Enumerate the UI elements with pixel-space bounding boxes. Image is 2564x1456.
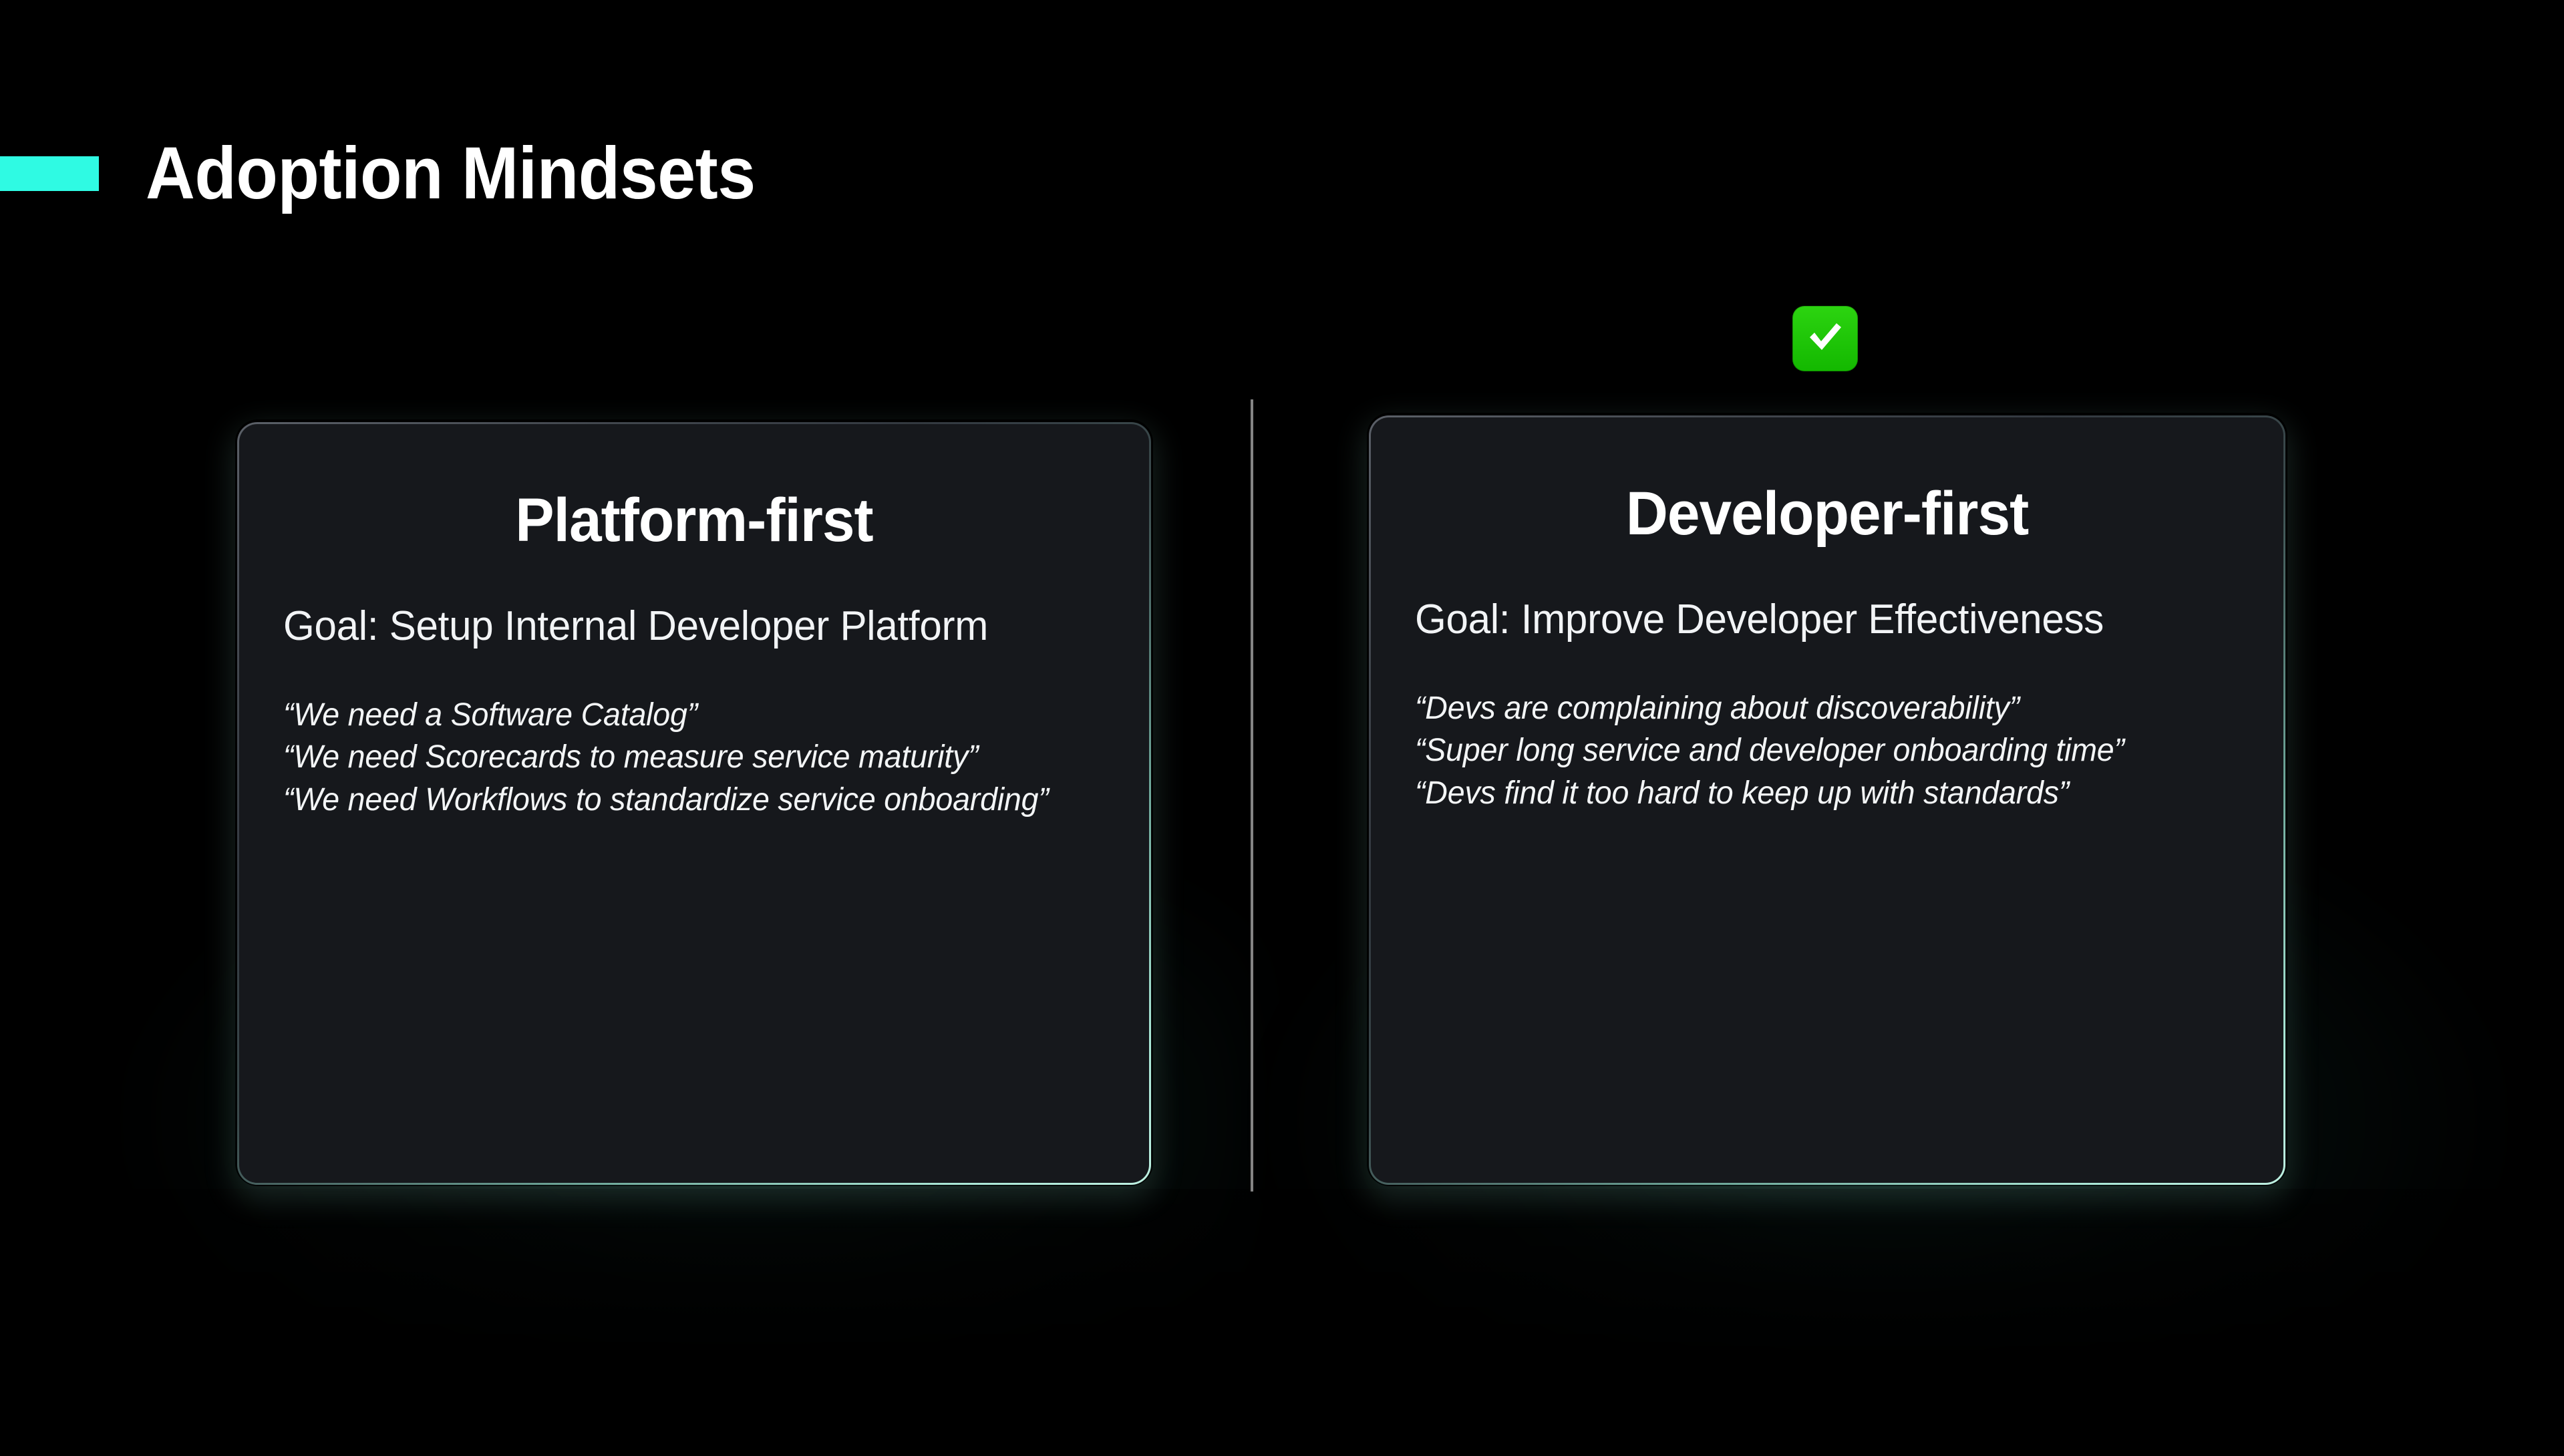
- card-inner-developer-first: Developer-first Goal: Improve Developer …: [1371, 417, 2283, 1183]
- quote-line: “We need Workflows to standardize servic…: [283, 779, 1080, 821]
- background-bottom-fade: [0, 1189, 2564, 1456]
- quote-line: “Devs are complaining about discoverabil…: [1415, 687, 2215, 729]
- card-goal-platform-first: Goal: Setup Internal Developer Platform: [283, 600, 1080, 653]
- card-platform-first[interactable]: Platform-first Goal: Setup Internal Deve…: [237, 422, 1151, 1185]
- page-title: Adoption Mindsets: [146, 137, 756, 210]
- card-quotes-developer-first: “Devs are complaining about discoverabil…: [1415, 687, 2215, 814]
- white-heavy-check-mark-emoji-icon: [1792, 306, 1858, 371]
- quote-line: “We need a Software Catalog”: [283, 694, 1080, 736]
- slide-header: Adoption Mindsets: [0, 137, 801, 210]
- card-title-developer-first: Developer-first: [1436, 482, 2219, 546]
- card-title-platform-first: Platform-first: [304, 488, 1085, 553]
- card-quotes-platform-first: “We need a Software Catalog” “We need Sc…: [283, 694, 1080, 821]
- quote-line: “Super long service and developer onboar…: [1415, 729, 2215, 771]
- accent-bar-icon: [0, 156, 99, 191]
- card-developer-first[interactable]: Developer-first Goal: Improve Developer …: [1369, 415, 2285, 1185]
- quote-line: “We need Scorecards to measure service m…: [283, 736, 1080, 778]
- card-goal-developer-first: Goal: Improve Developer Effectiveness: [1415, 593, 2215, 646]
- quote-line: “Devs find it too hard to keep up with s…: [1415, 772, 2215, 814]
- vertical-divider: [1251, 399, 1253, 1192]
- card-inner-platform-first: Platform-first Goal: Setup Internal Deve…: [239, 424, 1149, 1183]
